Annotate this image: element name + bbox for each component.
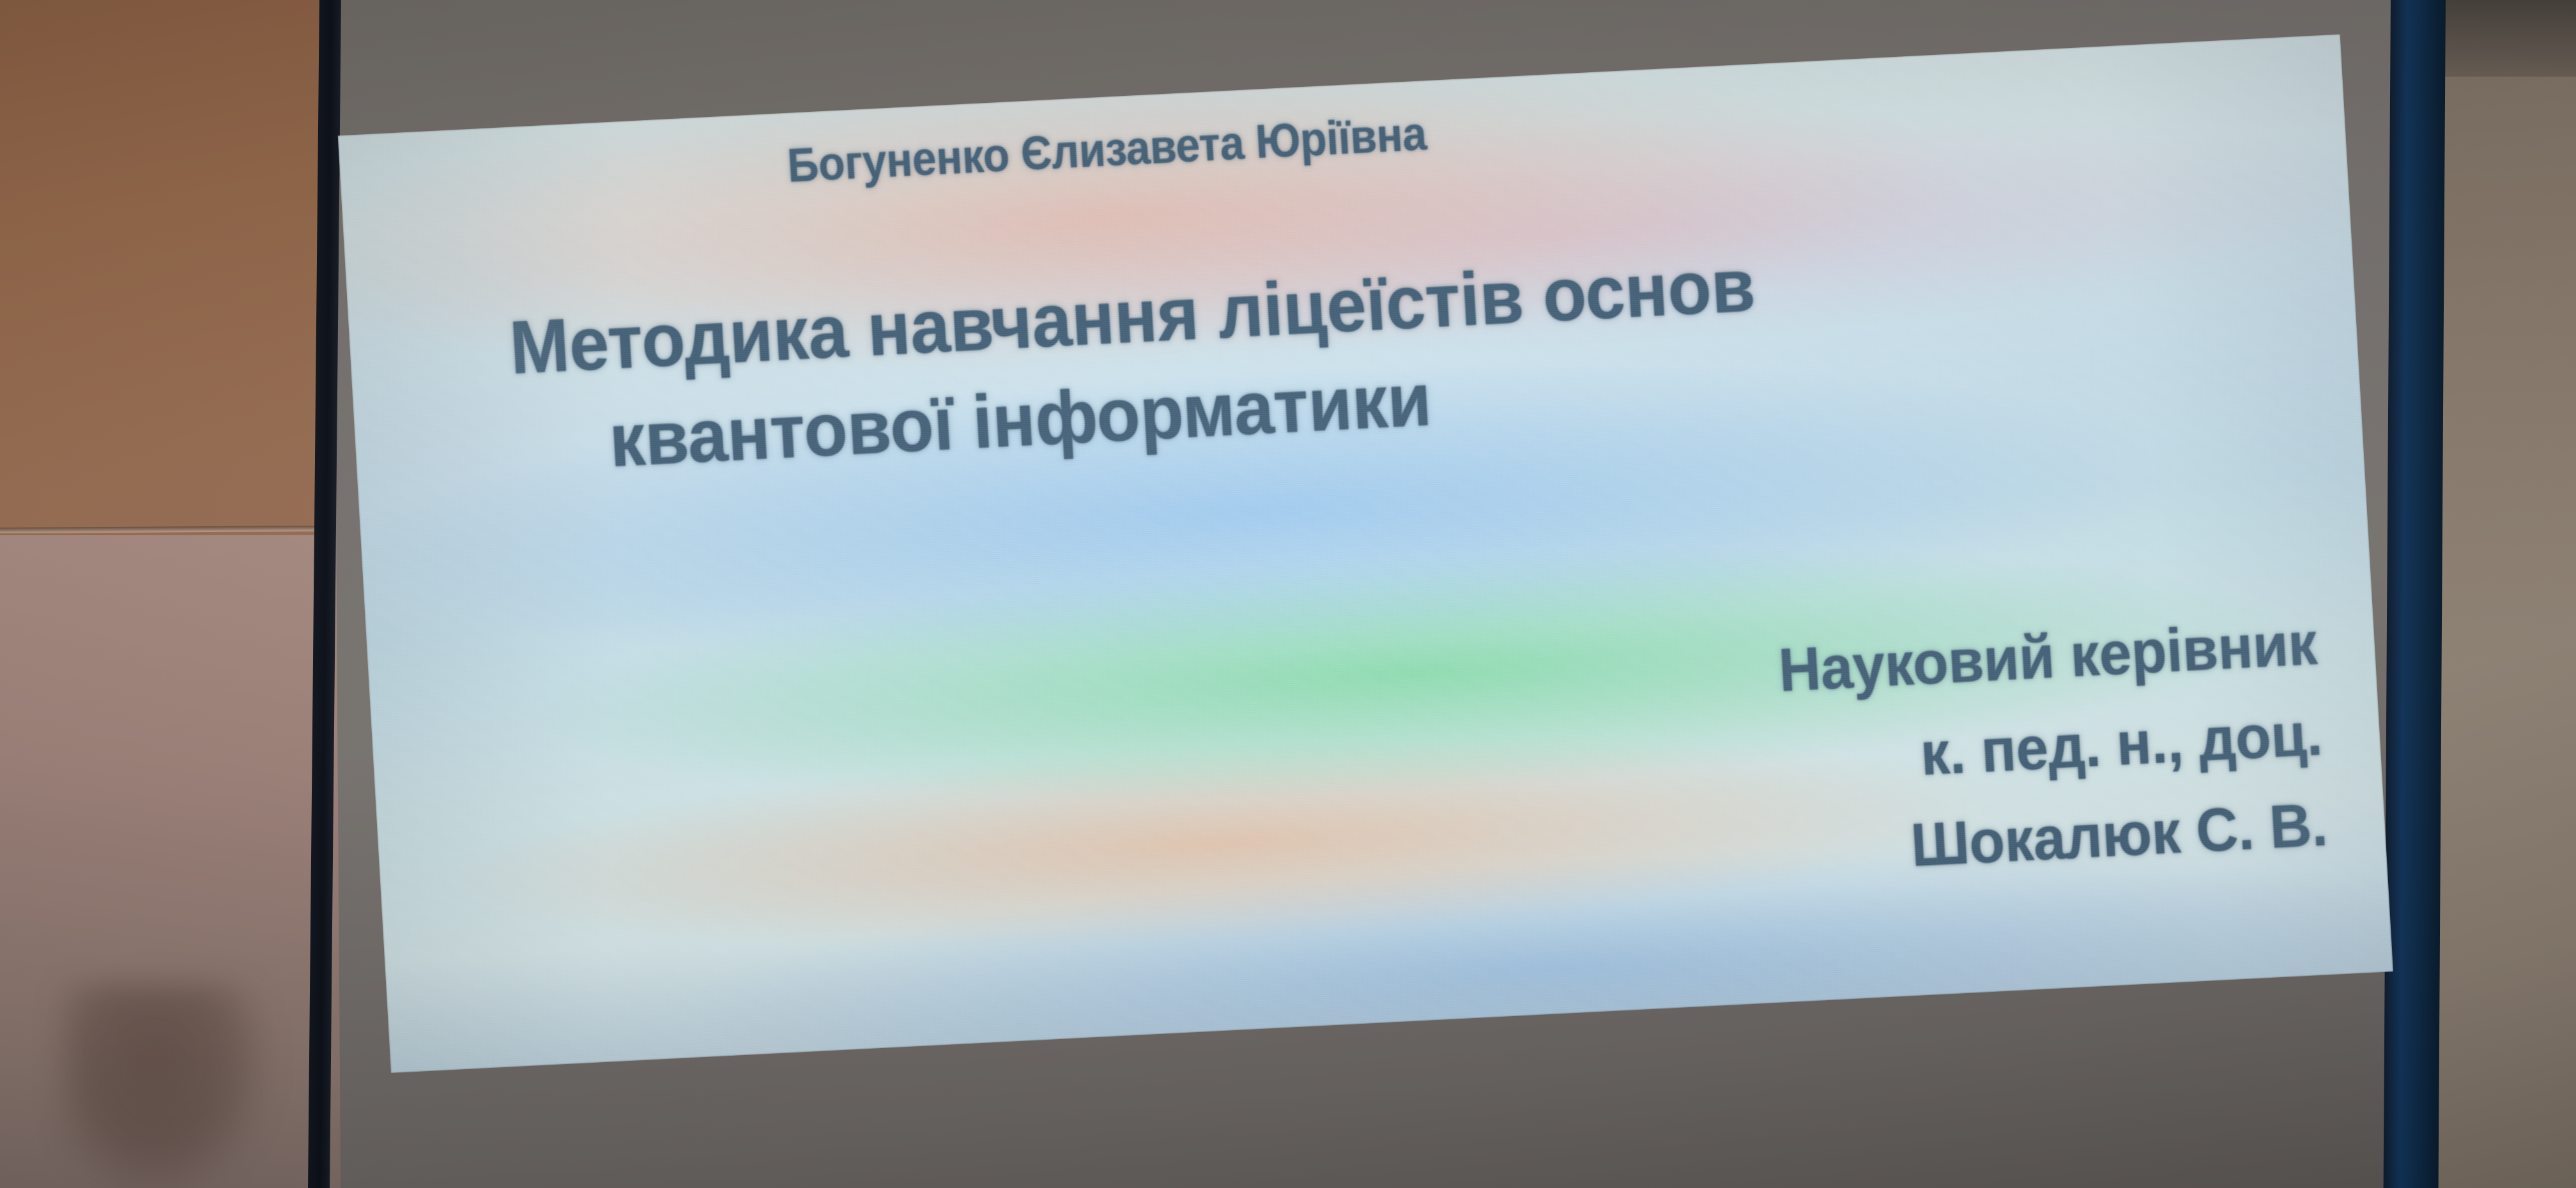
right-wall-upper-shadow bbox=[2428, 0, 2576, 77]
screen-frame-right-edge bbox=[2383, 0, 2446, 1188]
person-shadow bbox=[61, 984, 272, 1188]
slide-background bbox=[338, 34, 2393, 1073]
slide-supervisor-block: Науковий керівник к. пед. н., доц. Шокал… bbox=[1777, 598, 2330, 897]
screenshot-root: Богуненко Єлизавета Юріївна Методика нав… bbox=[0, 0, 2576, 1188]
right-wall bbox=[2428, 0, 2576, 1188]
projected-slide: Богуненко Єлизавета Юріївна Методика нав… bbox=[338, 34, 2393, 1073]
